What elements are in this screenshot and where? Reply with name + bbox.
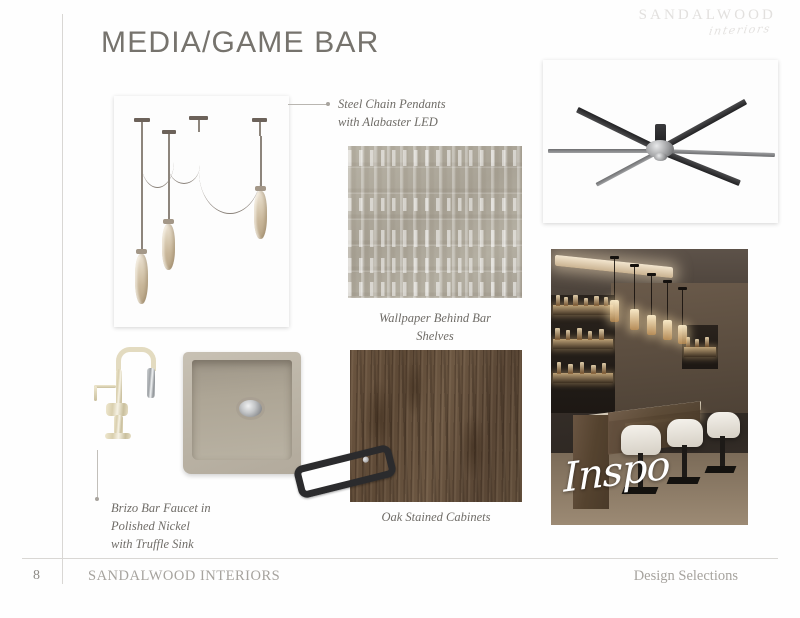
page-title: MEDIA/GAME BAR [101,26,380,60]
wallpaper-swatch[interactable] [348,146,522,298]
bar-faucet-icon[interactable] [90,345,170,445]
ceiling-fan-card[interactable] [543,60,778,223]
footer-brand-name: SANDALWOOD INTERIORS [88,568,280,585]
pendant-light-icon [114,96,289,327]
pendant-leader-dot [326,102,330,106]
brand-logo-wordmark: SANDALWOOD [639,8,776,23]
footer-section-label: Design Selections [634,568,738,585]
truffle-sink-icon[interactable] [183,352,301,474]
brand-logo: SANDALWOOD interiors [639,8,776,37]
footer-divider-rule [22,558,778,559]
pendant-caption-line-2: with Alabaster LED [338,114,508,132]
wallpaper-caption-line-1: Wallpaper Behind Bar [352,310,518,328]
faucet-caption-line-3: with Truffle Sink [111,536,296,554]
faucet-leader-line [97,450,98,498]
pendant-leader-line [288,104,328,105]
pendant-caption: Steel Chain Pendants with Alabaster LED [338,96,508,132]
footer-page-number: 8 [33,568,40,584]
inspiration-photo[interactable]: Inspo [551,249,748,525]
brand-logo-script: interiors [637,23,771,40]
faucet-sink-caption: Brizo Bar Faucet in Polished Nickel with… [111,500,296,553]
ceiling-fan-icon [543,60,778,223]
faucet-caption-line-1: Brizo Bar Faucet in [111,500,296,518]
cabinets-caption: Oak Stained Cabinets [350,509,522,527]
faucet-leader-dot [95,497,99,501]
pendant-caption-line-1: Steel Chain Pendants [338,96,508,114]
wallpaper-caption: Wallpaper Behind Bar Shelves [352,310,518,346]
left-margin-rule [62,14,63,584]
slide-canvas: MEDIA/GAME BAR SANDALWOOD interiors [0,0,800,618]
pendant-product-card[interactable] [114,96,289,327]
faucet-caption-line-2: Polished Nickel [111,518,296,536]
wallpaper-caption-line-2: Shelves [352,328,518,346]
